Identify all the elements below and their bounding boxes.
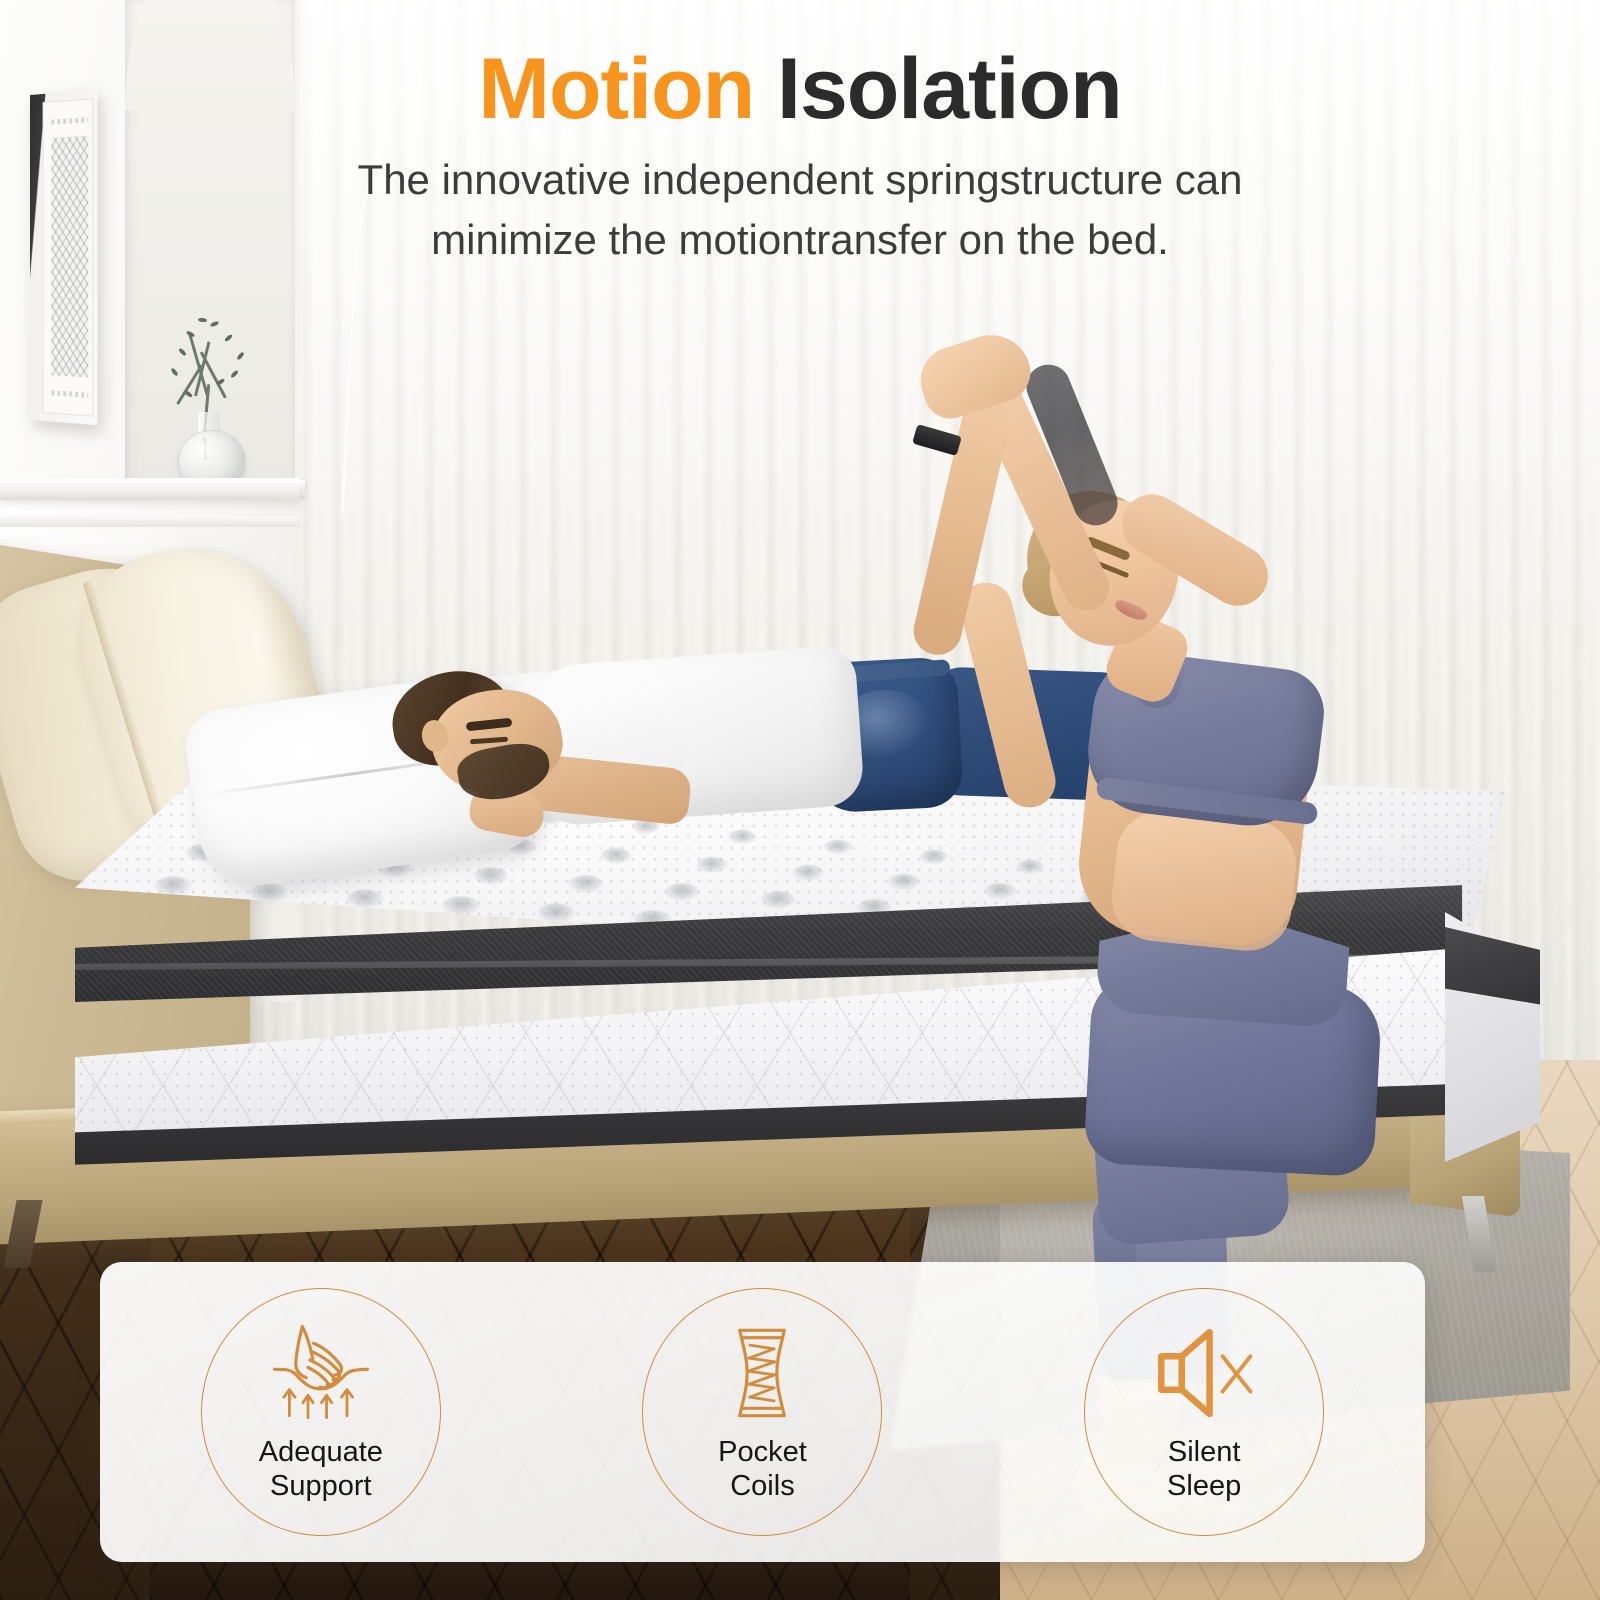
pocket-coil-spring-icon [706, 1321, 818, 1425]
hand-pressing-support-icon [265, 1321, 377, 1425]
woman-midriff [1108, 807, 1301, 955]
muted-speaker-icon [1148, 1321, 1260, 1425]
feature-label: Adequate Support [259, 1435, 383, 1503]
tufting-dimple [154, 876, 193, 895]
feature-label-line-2: Coils [718, 1469, 807, 1503]
product-infographic: Motion Isolation The innovative independ… [0, 0, 1600, 1600]
subheadline-line-2: minimize the motiontransfer on the bed. [0, 210, 1600, 270]
feature-pocket-coils[interactable]: Pocket Coils [642, 1288, 882, 1536]
woman-wristwatch [912, 424, 962, 456]
feature-label-line-1: Adequate [259, 1435, 383, 1469]
feature-label-line-1: Silent [1167, 1435, 1241, 1469]
tufting-dimple [537, 903, 576, 922]
woman-stretching [900, 330, 1400, 1310]
subheadline: The innovative independent springstructu… [0, 150, 1600, 269]
tufting-dimple [122, 909, 164, 930]
tufting-dimple [250, 883, 289, 902]
headline-rest: Isolation [754, 41, 1121, 137]
chair-rail-molding-lower [0, 516, 300, 527]
page-title: Motion Isolation [0, 46, 1600, 132]
chair-rail-molding [0, 478, 300, 500]
tufting-dimple [441, 896, 480, 915]
feature-label: Pocket Coils [718, 1435, 807, 1503]
headline-accent-word: Motion [478, 41, 754, 137]
tufting-dimple [760, 891, 795, 909]
feature-silent-sleep[interactable]: Silent Sleep [1084, 1288, 1324, 1536]
tufting-dimple [665, 883, 700, 901]
feature-label-line-2: Sleep [1167, 1469, 1241, 1503]
feature-label: Silent Sleep [1167, 1435, 1241, 1503]
feature-panel: Adequate Support [100, 1262, 1425, 1562]
tufting-dimple [345, 890, 384, 909]
feature-adequate-support[interactable]: Adequate Support [201, 1288, 441, 1536]
feature-label-line-2: Support [259, 1469, 383, 1503]
tufting-dimple [218, 914, 260, 935]
subheadline-line-1: The innovative independent springstructu… [0, 150, 1600, 210]
feature-label-line-1: Pocket [718, 1435, 807, 1469]
